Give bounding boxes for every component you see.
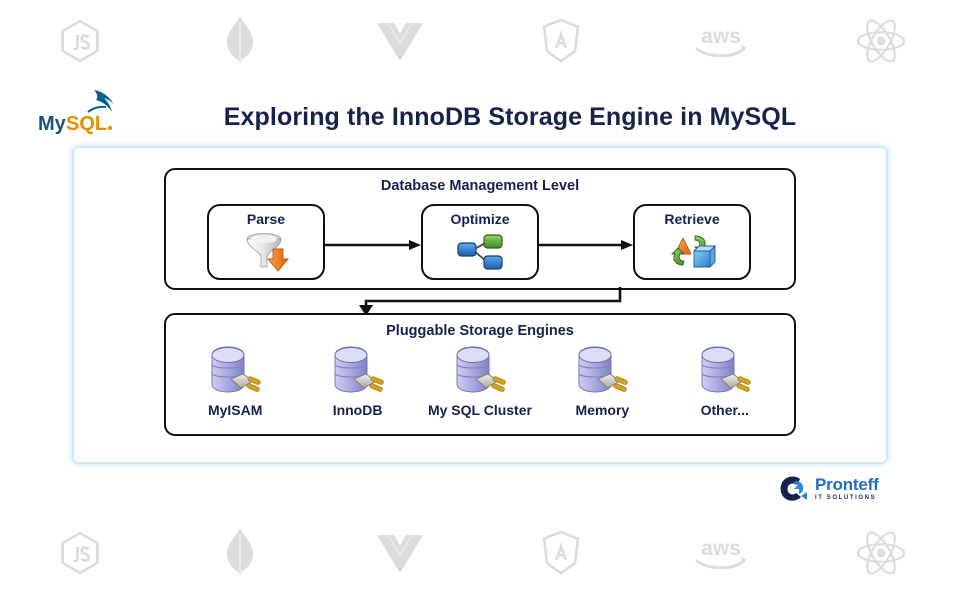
angular-icon [481,10,641,72]
watermark-row-top: aws [0,10,961,72]
funnel-icon [240,229,292,275]
svg-text:SQL: SQL [66,113,107,135]
page-title: Exploring the InnoDB Storage Engine in M… [140,103,880,132]
database-plug-icon [570,343,634,401]
angular-icon [481,522,641,584]
pronteff-tagline: IT SOLUTIONS [815,494,879,503]
react-icon [801,10,961,72]
stage-parse[interactable]: Parse [207,204,325,280]
pluggable-storage-engines-title: Pluggable Storage Engines [166,323,794,339]
svg-text:aws: aws [701,537,741,560]
engine-list: MyISAM InnoDB [174,343,786,435]
stage-optimize[interactable]: Optimize [421,204,539,280]
engine-item[interactable]: InnoDB [302,343,414,418]
mongodb-icon [160,10,320,72]
engine-item[interactable]: MyISAM [179,343,291,418]
pluggable-storage-engines-group: Pluggable Storage Engines [164,313,796,436]
mongodb-icon [160,522,320,584]
engine-label: InnoDB [333,402,383,418]
vue-icon [320,522,480,584]
pronteff-mark-icon [776,472,810,506]
vue-icon [320,10,480,72]
svg-text:My: My [38,113,67,135]
database-management-level-group: Database Management Level Parse [164,168,796,290]
aws-icon: aws [641,10,801,72]
engine-item[interactable]: Other... [669,343,781,418]
recycle-cube-icon [666,229,718,275]
arrow-optimize-to-retrieve [539,239,635,251]
engine-label: MyISAM [208,402,262,418]
arrow-parse-to-optimize [325,239,423,251]
stage-parse-label: Parse [247,211,285,227]
engine-label: My SQL Cluster [428,402,532,418]
database-plug-icon [326,343,390,401]
pronteff-name: Pronteff [815,476,879,494]
mysql-logo: My SQL [36,86,132,138]
database-plug-icon [203,343,267,401]
database-management-level-title: Database Management Level [166,178,794,194]
js-icon [0,10,160,72]
pronteff-logo: Pronteff IT SOLUTIONS [776,470,888,508]
svg-text:aws: aws [701,25,741,48]
engine-label: Other... [701,402,749,418]
watermark-row-bottom: aws [0,522,961,584]
pronteff-wordmark: Pronteff IT SOLUTIONS [815,476,879,503]
database-plug-icon [448,343,512,401]
stage-optimize-label: Optimize [450,211,509,227]
stage-retrieve-label: Retrieve [664,211,719,227]
engine-item[interactable]: My SQL Cluster [424,343,536,418]
engine-label: Memory [576,402,630,418]
stage-retrieve[interactable]: Retrieve [633,204,751,280]
diagram-panel: Database Management Level Parse [72,146,888,464]
react-icon [801,522,961,584]
js-icon [0,522,160,584]
engine-item[interactable]: Memory [546,343,658,418]
aws-icon: aws [641,522,801,584]
database-plug-icon [693,343,757,401]
node-tree-icon [454,229,506,275]
